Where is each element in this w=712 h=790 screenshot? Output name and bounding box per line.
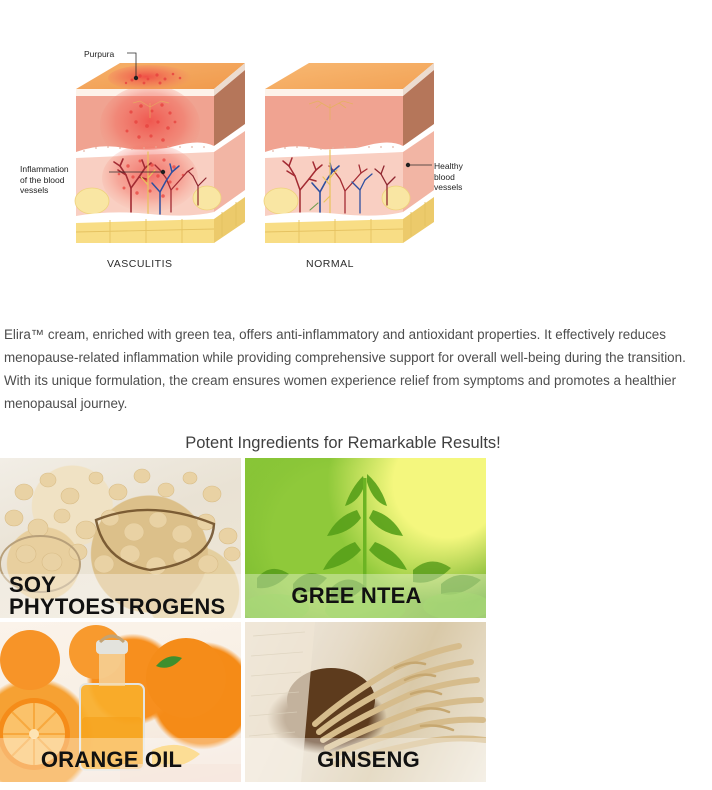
ingredients-grid: SOY PHYTOESTROGENS: [0, 458, 486, 790]
ingredient-card-green-tea[interactable]: GREE NTEA: [245, 458, 486, 618]
annotation-purpura: Purpura: [84, 49, 114, 60]
annotation-healthy-vessels: Healthy blood vessels: [434, 161, 463, 193]
annotation-healthy-line1: Healthy: [434, 161, 463, 172]
annotation-healthy-line2: blood: [434, 172, 463, 183]
annotation-inflammation-line2: of the blood: [20, 175, 69, 186]
ingredient-card-ginseng[interactable]: GINSENG: [245, 622, 486, 782]
ingredient-label-green-tea: GREE NTEA: [245, 574, 486, 618]
ingredient-label-ginseng: GINSENG: [245, 738, 486, 782]
normal-block: [264, 63, 434, 243]
vasculitis-block: [75, 63, 245, 243]
skin-diagram-figure: Purpura Inflammation of the blood vessel…: [0, 0, 712, 295]
caption-vasculitis: VASCULITIS: [107, 258, 173, 270]
ingredient-card-orange-oil[interactable]: ORANGE OIL: [0, 622, 241, 782]
ingredient-label-orange-oil: ORANGE OIL: [0, 738, 241, 782]
ingredient-card-soy[interactable]: SOY PHYTOESTROGENS: [0, 458, 241, 618]
product-description-paragraph: Elira™ cream, enriched with green tea, o…: [4, 323, 704, 415]
annotation-inflammation-line1: Inflammation: [20, 164, 69, 175]
annotation-healthy-line3: vessels: [434, 182, 463, 193]
annotation-inflammation-line3: vessels: [20, 185, 69, 196]
skin-cross-section-illustration: [0, 0, 712, 295]
caption-normal: NORMAL: [306, 258, 354, 270]
ingredients-section-heading: Potent Ingredients for Remarkable Result…: [0, 434, 686, 453]
ingredient-label-soy: SOY PHYTOESTROGENS: [0, 574, 241, 618]
annotation-inflammation: Inflammation of the blood vessels: [20, 164, 69, 196]
